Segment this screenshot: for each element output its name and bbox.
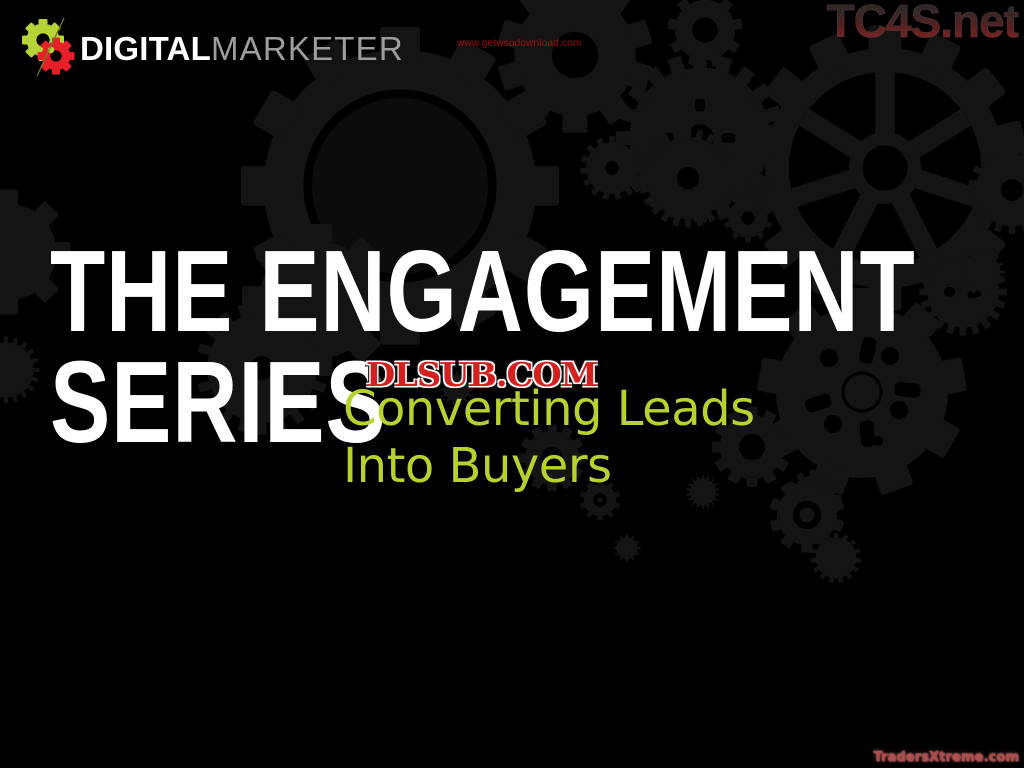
subtitle: Converting Leads Into Buyers bbox=[343, 381, 863, 494]
watermark-bottom-right: TradersXtreme.com bbox=[873, 750, 1019, 765]
brand-name-bold: DIGITAL bbox=[80, 30, 211, 67]
watermark-overlay-center: DLSUB.COM bbox=[366, 358, 597, 391]
subtitle-line-2: Into Buyers bbox=[343, 438, 863, 495]
brand-wordmark: DIGITALMARKETER bbox=[80, 32, 404, 65]
watermark-top-center: www.getwsodownload.com bbox=[457, 38, 581, 49]
presentation-slide: DIGITALMARKETER www.getwsodownload.com T… bbox=[0, 0, 1024, 768]
brand-logo: DIGITALMARKETER bbox=[22, 18, 404, 76]
two-gears-icon bbox=[22, 18, 78, 76]
headline-line-1: THE ENGAGEMENT bbox=[50, 237, 643, 346]
watermark-top-right: TC4S.net bbox=[827, 0, 1018, 44]
brand-name-light: MARKETER bbox=[211, 30, 404, 67]
